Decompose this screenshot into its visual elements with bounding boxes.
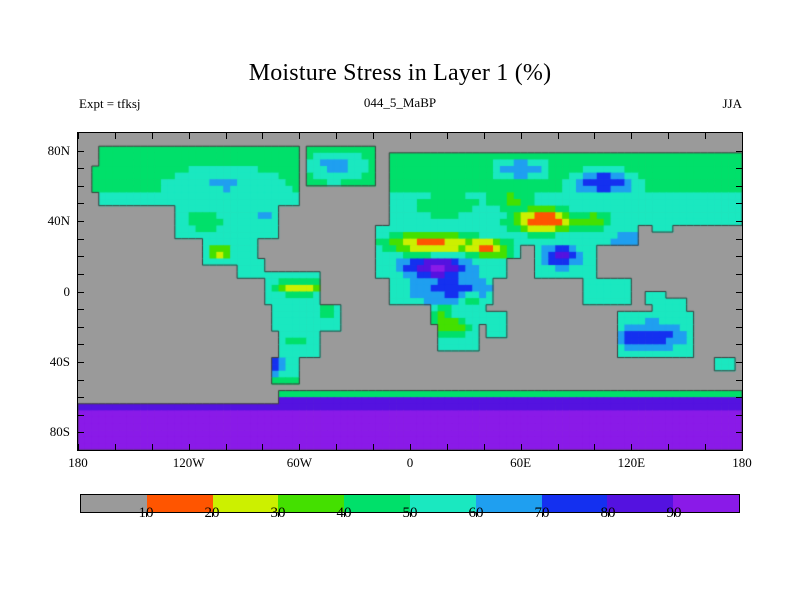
y-axis-label: 40S	[10, 354, 70, 370]
x-axis-label: 180	[43, 455, 113, 471]
x-axis-label: 60W	[264, 455, 334, 471]
page-title: Moisture Stress in Layer 1 (%)	[0, 60, 800, 87]
colorbar-label: 80	[578, 505, 638, 522]
experiment-label: Expt = tfksj	[79, 96, 141, 112]
colorbar-label: 70	[512, 505, 572, 522]
moisture-stress-map	[78, 133, 742, 450]
colorbar-label: 90	[644, 505, 704, 522]
x-axis-label: 0	[375, 455, 445, 471]
x-axis-label: 180	[707, 455, 777, 471]
colorbar-label: 30	[248, 505, 308, 522]
y-axis-label: 40N	[10, 213, 70, 229]
colorbar-label: 10	[116, 505, 176, 522]
x-axis-label: 120E	[596, 455, 666, 471]
season-label: JJA	[722, 96, 742, 112]
y-axis-label: 80N	[10, 143, 70, 159]
x-axis-label: 120W	[154, 455, 224, 471]
x-axis-label: 60E	[486, 455, 556, 471]
y-axis-label: 0	[10, 284, 70, 300]
colorbar-label: 60	[446, 505, 506, 522]
colorbar-label: 20	[182, 505, 242, 522]
map-plot-area	[78, 133, 742, 450]
x-axis-tick	[742, 444, 743, 450]
colorbar-label: 50	[380, 505, 440, 522]
colorbar-label: 40	[314, 505, 374, 522]
x-axis-tick	[742, 133, 743, 139]
y-axis-label: 80S	[10, 424, 70, 440]
